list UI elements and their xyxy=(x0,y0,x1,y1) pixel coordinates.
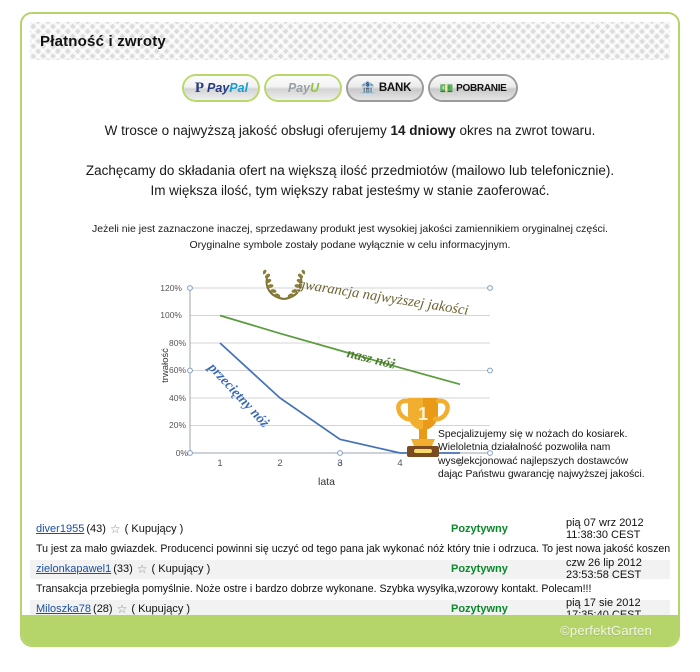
disclaimer-line1: Jeżeli nie jest zaznaczone inaczej, sprz… xyxy=(22,222,678,238)
trophy-rank-number: 1 xyxy=(418,404,428,424)
ytick-20: 20% xyxy=(156,420,186,430)
bulk-offer-text: Zachęcamy do składania ofert na większą … xyxy=(22,161,678,200)
durability-chart: 120% 100% 80% 60% 40% 20% 0% 1 2 3 4 5 t… xyxy=(150,268,550,498)
series-line-nasz-noz xyxy=(220,315,460,384)
payment-methods: P PayPal PayU 🏦 BANK 💵 POBRANIE xyxy=(22,76,678,100)
chart-x-axis-label: lata xyxy=(318,476,335,488)
specialization-note-line4: dając Państwu gwarancję najwyższej jakoś… xyxy=(438,468,680,482)
cash-on-delivery-hand-icon: 💵 xyxy=(439,82,453,95)
feedback-rating-count: (33) xyxy=(113,563,133,575)
disclaimer-line2: Oryginalne symbole zostały podane wyłącz… xyxy=(22,238,678,254)
section-header: Płatność i zwroty xyxy=(30,22,670,60)
star-icon: ☆ xyxy=(137,562,148,576)
xtick-1: 1 xyxy=(210,458,230,469)
footer-bar: ©perfektGarten xyxy=(22,615,678,645)
return-period-highlight: 14 dniowy xyxy=(391,123,456,138)
feedback-rating: Pozytywny xyxy=(451,603,508,615)
feedback-date: pią 07 wrz 2012 11:38:30 CEST xyxy=(566,517,664,541)
feedback-rating-count: (43) xyxy=(86,523,106,535)
feedback-role: ( Kupujący ) xyxy=(125,523,184,535)
feedback-date: czw 26 lip 2012 23:53:58 CEST xyxy=(566,557,664,581)
feedback-username[interactable]: Miloszka78 xyxy=(36,603,91,615)
ytick-40: 40% xyxy=(156,393,186,403)
feedback-username[interactable]: zielonkapawel1 xyxy=(36,563,111,575)
content-frame: Płatność i zwroty P PayPal PayU 🏦 BANK 💵… xyxy=(20,12,680,647)
bulk-offer-line2: Im większa ilość, tym większy rabat jest… xyxy=(22,181,678,201)
feedback-rating-count: (28) xyxy=(93,603,113,615)
footer-watermark: ©perfektGarten xyxy=(560,623,678,638)
feedback-row-header: zielonkapawel1 (33) ☆ ( Kupujący ) Pozyt… xyxy=(30,560,670,579)
badge-pobranie-label: POBRANIE xyxy=(456,83,506,94)
xtick-3: 3 xyxy=(330,458,350,469)
badge-bank[interactable]: 🏦 BANK xyxy=(348,76,422,100)
bulk-offer-line1: Zachęcamy do składania ofert na większą … xyxy=(22,161,678,181)
chart-y-axis-label: trwałość xyxy=(160,348,171,383)
return-policy-prefix: W trosce o najwyższą jakość obsługi ofer… xyxy=(105,123,391,138)
feedback-row-header: diver1955 (43) ☆ ( Kupujący ) Pozytywny … xyxy=(30,520,670,539)
disclaimer-text: Jeżeli nie jest zaznaczone inaczej, sprz… xyxy=(22,222,678,254)
xtick-2: 2 xyxy=(270,458,290,469)
ytick-120: 120% xyxy=(152,283,182,293)
ytick-80: 80% xyxy=(156,338,186,348)
ytick-100: 100% xyxy=(152,310,182,320)
page-title: Płatność i zwroty xyxy=(30,33,166,50)
paypal-p-icon: P xyxy=(195,80,204,97)
ytick-0: 0% xyxy=(158,448,188,458)
feedback-username[interactable]: diver1955 xyxy=(36,523,84,535)
badge-paypal-label: PayPal xyxy=(207,81,248,95)
feedback-role: ( Kupujący ) xyxy=(152,563,211,575)
bank-columns-icon: 🏦 xyxy=(360,80,376,96)
badge-paypal[interactable]: P PayPal xyxy=(184,76,258,100)
badge-pobranie[interactable]: 💵 POBRANIE xyxy=(430,76,515,100)
specialization-note-line3: wyselekcjonować najlepszych dostawców xyxy=(438,455,680,469)
return-policy-text: W trosce o najwyższą jakość obsługi ofer… xyxy=(22,123,678,138)
badge-payu-label: PayU xyxy=(288,81,319,95)
feedback-rating: Pozytywny xyxy=(451,563,508,575)
page-root: Płatność i zwroty P PayPal PayU 🏦 BANK 💵… xyxy=(0,0,700,672)
feedback-role: ( Kupujący ) xyxy=(131,603,190,615)
badge-bank-label: BANK xyxy=(379,82,411,94)
specialization-note-line1: Specjalizujemy się w nożach do kosiarek. xyxy=(438,428,680,442)
specialization-note: Specjalizujemy się w nożach do kosiarek.… xyxy=(438,428,680,482)
feedback-rating: Pozytywny xyxy=(451,523,508,535)
badge-payu[interactable]: PayU xyxy=(266,76,340,100)
return-policy-suffix: okres na zwrot towaru. xyxy=(456,123,596,138)
specialization-note-line2: Wieloletnia działalność pozwoliła nam xyxy=(438,441,680,455)
star-icon: ☆ xyxy=(110,522,121,536)
